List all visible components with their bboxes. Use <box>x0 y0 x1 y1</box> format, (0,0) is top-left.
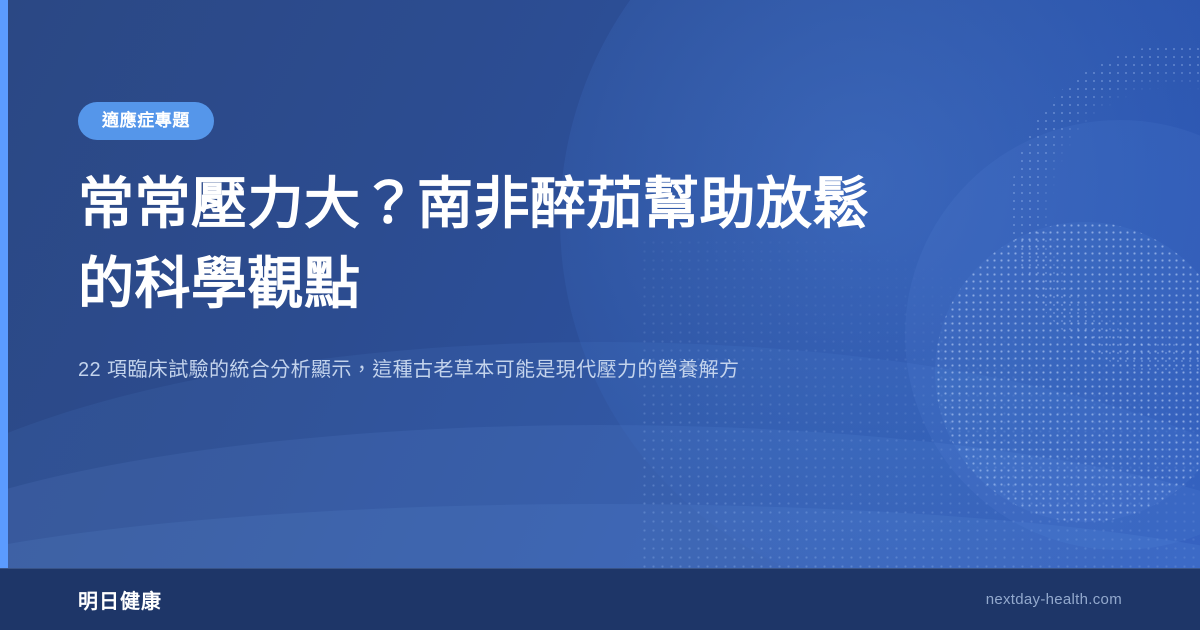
page-subtitle: 22 項臨床試驗的統合分析顯示，這種古老草本可能是現代壓力的營養解方 <box>78 354 918 386</box>
brand-name: 明日健康 <box>78 585 162 614</box>
footer-divider <box>0 568 1200 569</box>
page-title: 常常壓力大？南非醉茄幫助放鬆的科學觀點 <box>78 164 908 324</box>
card-footer: 明日健康 nextday-health.com <box>0 568 1200 630</box>
category-badge[interactable]: 適應症專題 <box>78 102 214 140</box>
left-accent-bar <box>0 0 8 568</box>
social-share-card: 適應症專題 常常壓力大？南非醉茄幫助放鬆的科學觀點 22 項臨床試驗的統合分析顯… <box>0 0 1200 630</box>
card-content: 適應症專題 常常壓力大？南非醉茄幫助放鬆的科學觀點 22 項臨床試驗的統合分析顯… <box>78 0 1122 386</box>
site-url[interactable]: nextday-health.com <box>986 591 1122 608</box>
